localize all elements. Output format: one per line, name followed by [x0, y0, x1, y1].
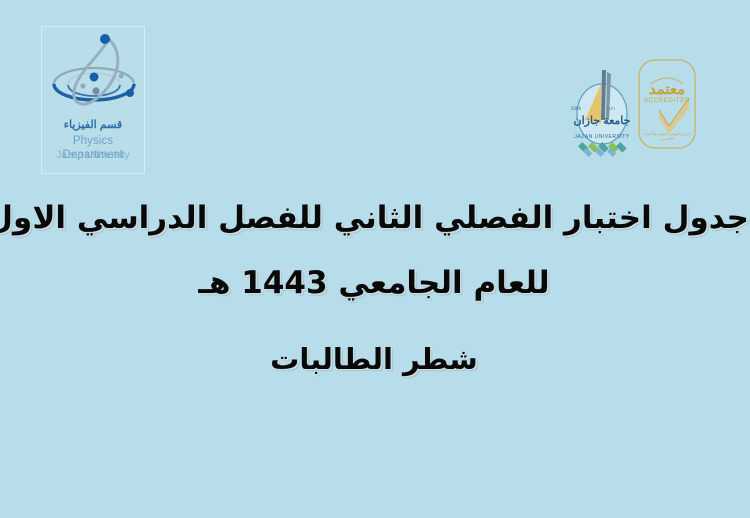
accreditation-english-label: ACCREDITED: [638, 98, 698, 104]
physics-department-logo: قسم الفيزياء Physics Department Jazan Un…: [42, 26, 146, 174]
physics-logo-university-name: Jazan University: [43, 150, 145, 162]
atom-icon: [45, 29, 145, 121]
jazan-university-seal-icon: 2006 ١٤٣٦: [572, 58, 634, 160]
title-line-2: للعام الجامعي 1443 هـ: [0, 244, 750, 322]
title-line-1: جدول اختبار الفصلي الثاني للفصل الدراسي …: [0, 192, 750, 244]
jazan-logo-arabic-name: جامعة جازان: [572, 114, 634, 127]
slide-canvas: قسم الفيزياء Physics Department Jazan Un…: [0, 0, 750, 518]
physics-logo-arabic-name: قسم الفيزياء: [43, 119, 145, 132]
accreditation-sub-label: المركز الوطني للتقويم والاعتماد الأكاديم…: [638, 132, 698, 141]
title-line-3: شطر الطالبات: [0, 322, 750, 396]
slide-title: جدول اختبار الفصلي الثاني للفصل الدراسي …: [0, 192, 750, 396]
accreditation-badge: معتمد ACCREDITED المركز الوطني للتقويم و…: [638, 58, 698, 150]
svg-text:١٤٣٦: ١٤٣٦: [607, 106, 616, 111]
svg-text:2006: 2006: [572, 106, 582, 111]
jazan-logo-english-name: JAZAN UNIVERSITY: [572, 134, 634, 140]
accreditation-arabic-label: معتمد: [638, 80, 698, 98]
jazan-university-logo: 2006 ١٤٣٦ جامعة جازان JAZAN UNIVERSITY: [572, 58, 634, 160]
